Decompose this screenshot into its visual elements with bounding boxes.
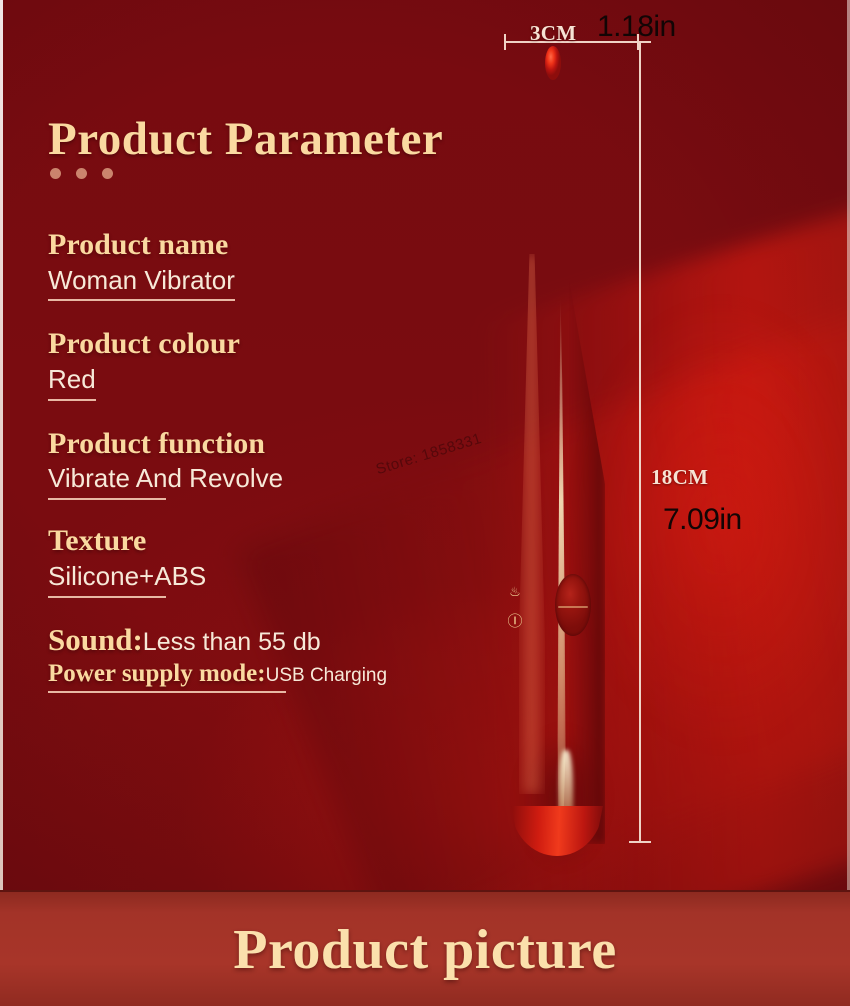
spec-label: Texture xyxy=(48,524,478,558)
spec-row-product-colour: Product colour Red xyxy=(48,327,478,400)
height-dimension-cap-top xyxy=(629,41,651,43)
spec-row-power-supply: Power supply mode:USB Charging xyxy=(48,660,478,688)
product-picture-banner: Product picture xyxy=(0,890,850,1006)
width-label-in: 1.18in xyxy=(597,10,676,44)
spec-label: Power supply mode: xyxy=(48,660,266,687)
spec-label: Product name xyxy=(48,228,478,262)
height-dimension-line xyxy=(639,41,641,843)
left-edge-border xyxy=(0,0,3,890)
title-dot xyxy=(50,168,61,179)
title-dots-decoration xyxy=(50,168,113,179)
spec-row-texture: Texture Silicone+ABS xyxy=(48,524,478,595)
spec-label: Sound: xyxy=(48,622,143,657)
product-tip-cap xyxy=(545,46,561,80)
spec-label: Product colour xyxy=(48,327,478,361)
spec-value: Woman Vibrator xyxy=(48,264,235,302)
control-divider xyxy=(558,606,588,608)
spec-value: Vibrate And Revolve xyxy=(48,462,283,498)
product-image: ♨ Ⓘ xyxy=(497,44,617,852)
product-photo-area: ♨ Ⓘ 3CM 1.18in 18CM 7.09in Product Param… xyxy=(0,0,850,890)
vibration-mode-icon: ♨ xyxy=(497,586,533,599)
width-dimension-cap-left xyxy=(504,34,506,50)
height-label-cm: 18CM xyxy=(651,465,708,490)
spec-value: Less than 55 db xyxy=(143,628,321,656)
spec-value: Red xyxy=(48,363,96,401)
spec-value: Silicone+ABS xyxy=(48,560,206,596)
height-label-in: 7.09in xyxy=(663,503,742,537)
spec-underline-group: Power supply mode:USB Charging xyxy=(48,660,387,688)
product-parameter-infographic: ♨ Ⓘ 3CM 1.18in 18CM 7.09in Product Param… xyxy=(0,0,850,1006)
control-panel-oval xyxy=(555,574,591,636)
title-dot xyxy=(76,168,87,179)
height-dimension-cap-bottom xyxy=(629,841,651,843)
title-dot xyxy=(102,168,113,179)
width-label-cm: 3CM xyxy=(530,21,576,46)
spec-row-sound: Sound:Less than 55 db xyxy=(48,622,478,658)
spec-value: USB Charging xyxy=(266,665,387,686)
page-title: Product Parameter xyxy=(48,112,443,166)
power-button-icon: Ⓘ xyxy=(497,614,533,629)
spec-row-product-name: Product name Woman Vibrator xyxy=(48,228,478,301)
banner-title: Product picture xyxy=(233,918,616,982)
